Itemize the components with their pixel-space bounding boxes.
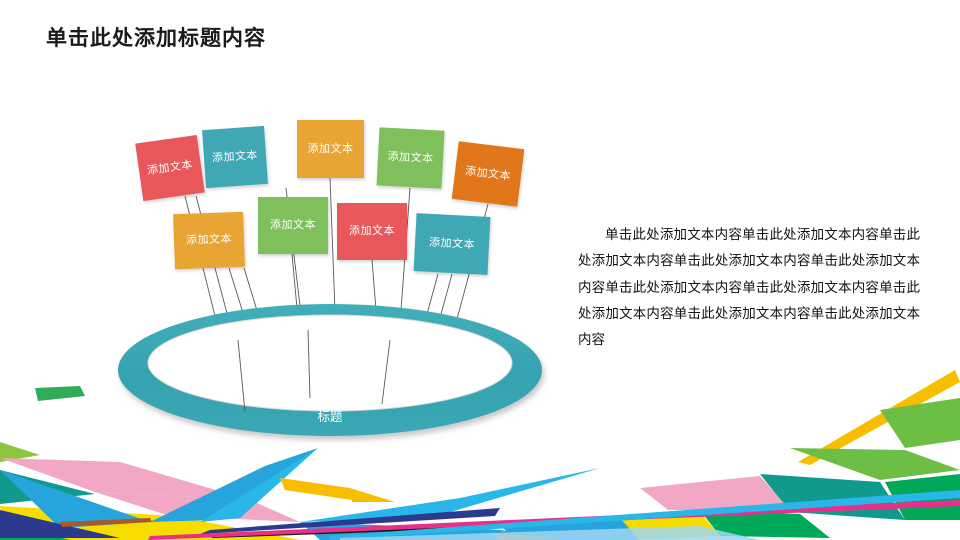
- deco-shard-cyan-thin: [330, 490, 960, 540]
- pin-card-label: 添加文本: [429, 235, 476, 252]
- deco-shard-yellow-diamond: [600, 512, 720, 540]
- deco-shard-lightblue-mid: [300, 522, 560, 540]
- deco-shard-green-diamond-3: [885, 474, 960, 520]
- pin-card-label: 添加文本: [146, 157, 194, 178]
- deco-shard-cyan-right: [300, 468, 600, 522]
- pin-card-3[interactable]: 添加文本: [297, 120, 364, 178]
- pin-card-label: 添加文本: [270, 218, 316, 233]
- pin-card-label: 添加文本: [212, 148, 259, 166]
- pin-card-4[interactable]: 添加文本: [377, 127, 445, 188]
- pin-card-1[interactable]: 添加文本: [135, 135, 204, 201]
- deco-shard-blue-spear-1: [0, 470, 150, 528]
- deco-shard-orange-dash: [60, 518, 152, 527]
- pin-card-5[interactable]: 添加文本: [452, 141, 525, 207]
- deco-shard-pink-2: [95, 492, 300, 522]
- pin-card-6[interactable]: 添加文本: [173, 212, 245, 269]
- deco-shard-yellow-right: [798, 370, 960, 465]
- deco-shard-teal-left: [0, 470, 95, 504]
- deco-shard-navy-right: [200, 508, 500, 534]
- pin-card-8[interactable]: 添加文本: [337, 203, 407, 260]
- deco-shard-black-right: [210, 522, 490, 538]
- pin-card-label: 添加文本: [349, 224, 395, 239]
- ring-center-label: 标题: [317, 409, 343, 424]
- body-paragraph: 单击此处添加文本内容单击此处添加文本内容单击此处添加文本内容单击此处添加文本内容…: [578, 222, 920, 354]
- deco-shard-teal-diamond-2: [700, 510, 830, 538]
- pin-card-7[interactable]: 添加文本: [258, 197, 328, 254]
- ring-inner-hole: [148, 315, 512, 411]
- deco-shard-green-diamond-2: [790, 448, 960, 480]
- deco-shard-pink-right: [640, 476, 790, 510]
- deco-shard-lightblue-sweep: [340, 526, 760, 540]
- deco-shard-pink: [0, 458, 250, 500]
- pin-card-label: 添加文本: [308, 142, 354, 157]
- deco-shard-blue-diamond: [500, 518, 640, 540]
- pin-board-diagram: 标题 添加文本添加文本添加文本添加文本添加文本添加文本添加文本添加文本添加文本: [0, 0, 600, 460]
- deco-shard-navy-1: [0, 510, 120, 538]
- pin-card-label: 添加文本: [387, 149, 434, 166]
- pin-card-9[interactable]: 添加文本: [414, 213, 491, 275]
- deco-shard-yellow-mid-2: [350, 488, 395, 502]
- deco-shard-magenta: [148, 500, 960, 540]
- deco-shard-teal-diamond-1: [760, 474, 905, 520]
- deco-shard-orange-dash-2: [490, 533, 560, 540]
- pin-card-label: 添加文本: [186, 232, 232, 248]
- deco-shard-yellow-mid: [280, 478, 352, 500]
- deco-shard-yellow-left: [0, 506, 300, 540]
- pin-card-label: 添加文本: [464, 164, 511, 184]
- deco-shard-darkgreen-left: [0, 522, 70, 540]
- deco-shard-green-diamond-1: [880, 398, 960, 448]
- pin-card-2[interactable]: 添加文本: [202, 126, 268, 188]
